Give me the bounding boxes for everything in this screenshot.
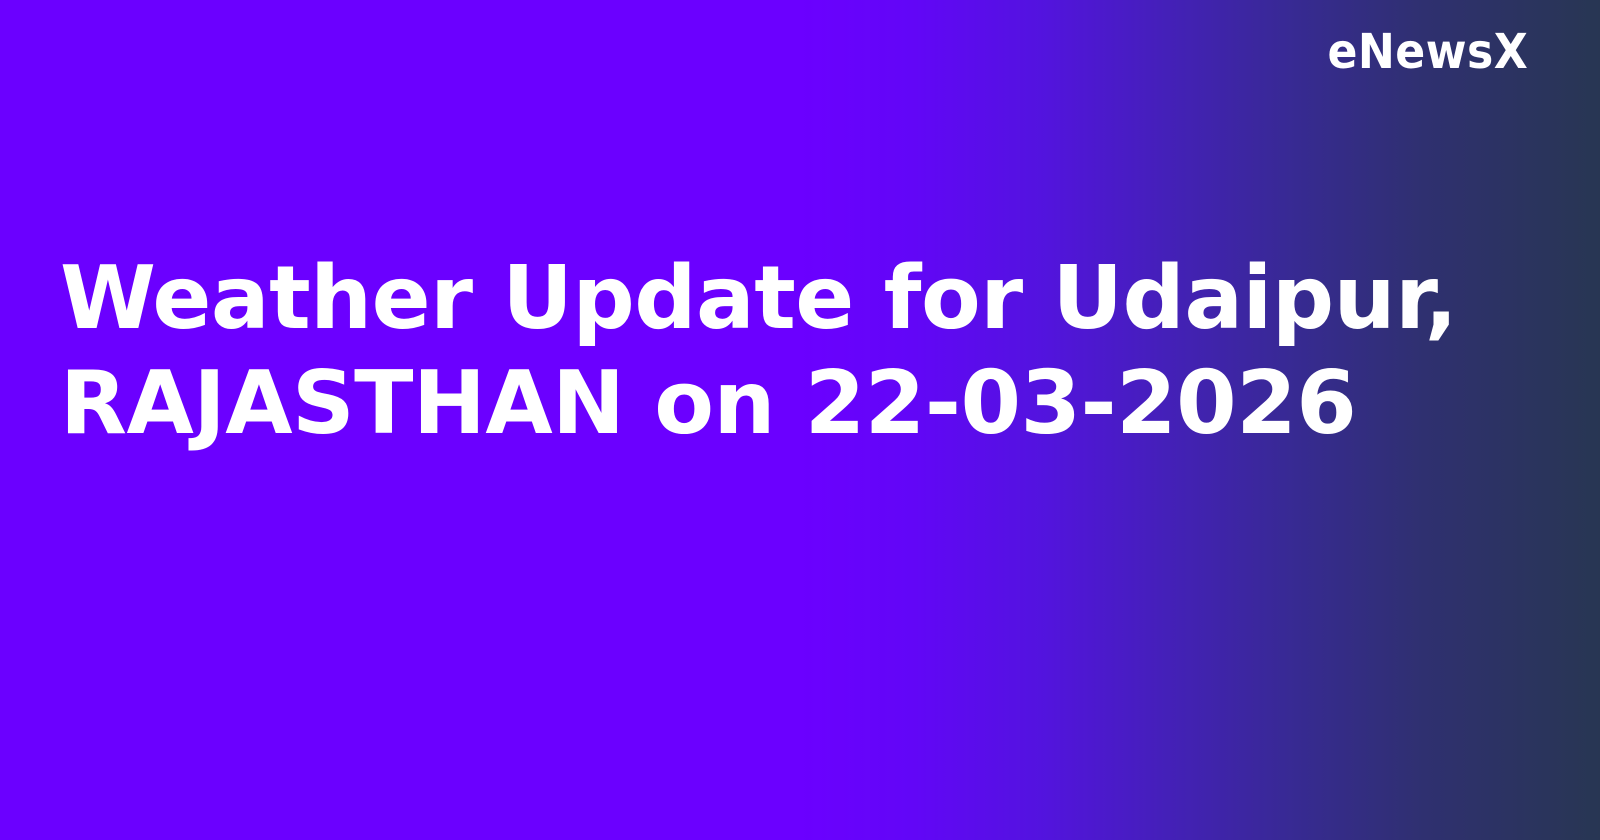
headline-container: Weather Update for Udaipur, RAJASTHAN on… [60,246,1480,456]
brand-wordmark-text: eNewsX [1327,28,1528,76]
weather-update-banner: eNewsX Weather Update for Udaipur, RAJAS… [0,0,1600,840]
page-title: Weather Update for Udaipur, RAJASTHAN on… [60,246,1480,456]
brand-logo[interactable]: eNewsX [1310,28,1528,76]
